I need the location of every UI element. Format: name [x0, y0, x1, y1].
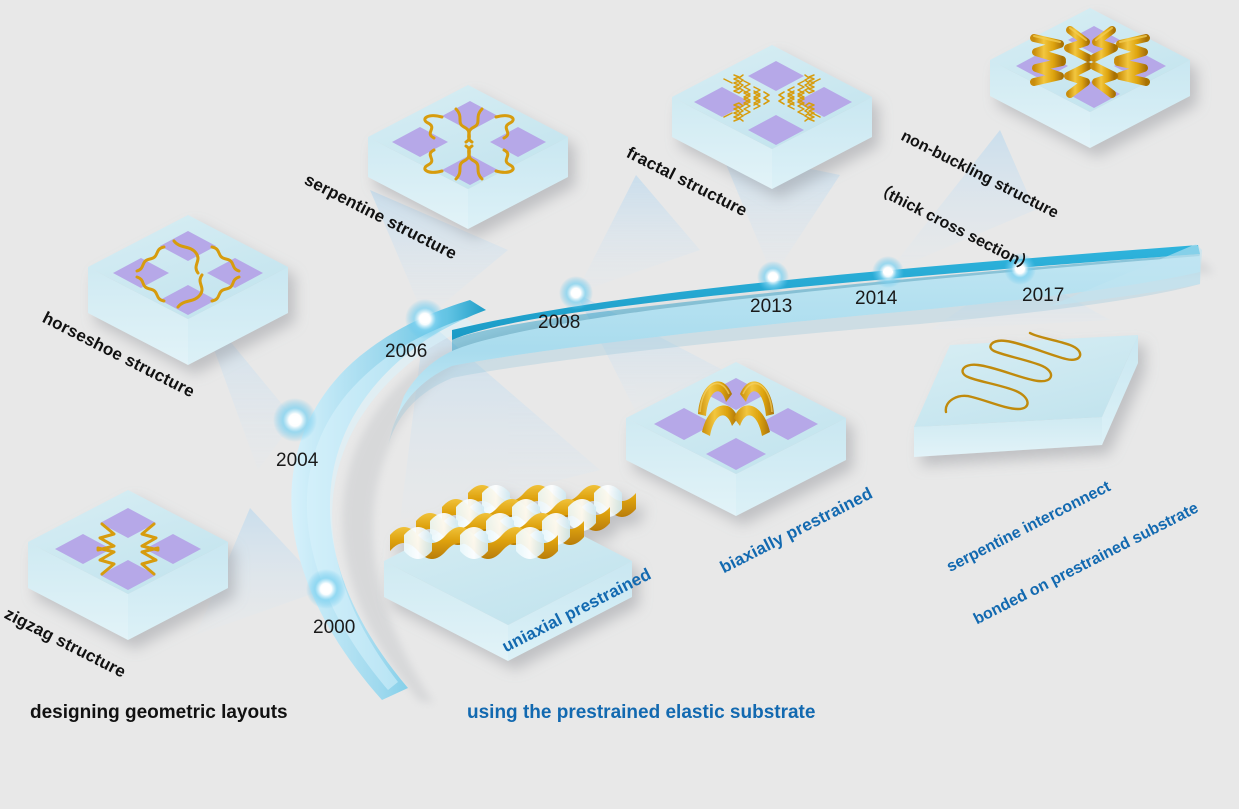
- figure-canvas: zigzag structure horseshoe structure ser…: [0, 0, 1239, 809]
- year-label-2014: 2014: [855, 288, 897, 310]
- structure-block-horseshoe[interactable]: [88, 215, 288, 365]
- year-label-2017: 2017: [1022, 285, 1064, 307]
- year-label-2000: 2000: [313, 617, 355, 639]
- timeline-node-2013[interactable]: [757, 261, 789, 293]
- structure-block-zigzag[interactable]: [28, 490, 228, 640]
- timeline-illustration: [0, 0, 1239, 809]
- year-label-2004: 2004: [276, 450, 318, 472]
- structure-block-non-buckling[interactable]: [990, 8, 1190, 148]
- timeline-node-2008[interactable]: [559, 276, 593, 310]
- year-label-2006: 2006: [385, 341, 427, 363]
- year-label-2008: 2008: [538, 312, 580, 334]
- timeline-node-2006[interactable]: [405, 299, 445, 339]
- caption-using-prestrained-substrate: using the prestrained elastic substrate: [467, 702, 815, 724]
- year-label-2013: 2013: [750, 296, 792, 318]
- timeline-node-2000[interactable]: [306, 569, 346, 609]
- structure-block-fractal[interactable]: [672, 45, 872, 189]
- timeline-node-2014[interactable]: [872, 256, 904, 288]
- caption-designing-geometric-layouts: designing geometric layouts: [30, 702, 288, 724]
- timeline-node-2004[interactable]: [273, 398, 317, 442]
